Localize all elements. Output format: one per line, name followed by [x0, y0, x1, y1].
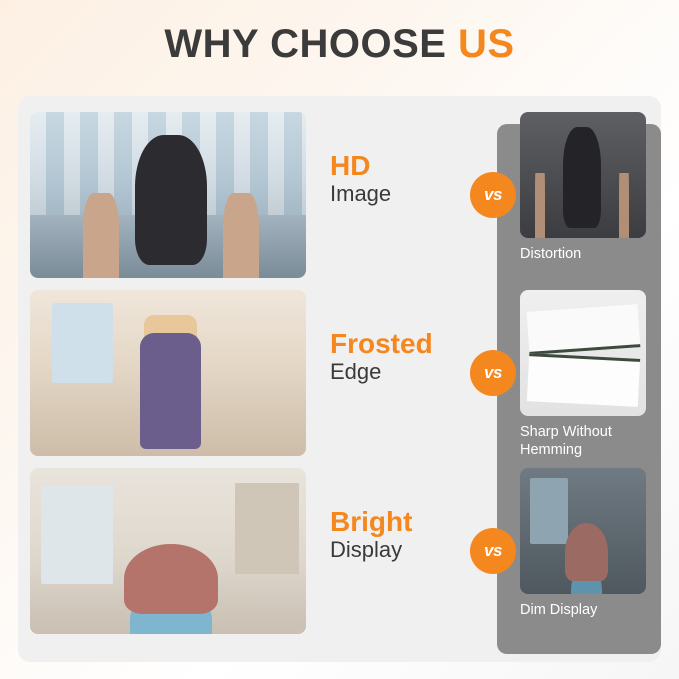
vs-badge: vs	[470, 350, 516, 396]
vs-badge: vs	[470, 528, 516, 574]
main-photo-hd-image	[30, 112, 306, 278]
page-title: WHY CHOOSE US	[0, 22, 679, 67]
feature-title: HD	[330, 150, 495, 181]
main-photo-bright-display	[30, 468, 306, 634]
compare-photo-dim-display	[520, 468, 646, 594]
comparison-block: Dim Display	[520, 468, 646, 619]
dim-display-photo	[520, 468, 646, 594]
compare-caption: Distortion	[520, 245, 646, 263]
page-title-main: WHY CHOOSE	[164, 22, 458, 66]
feature-title: Bright	[330, 506, 495, 537]
woman-stretching-gym-photo	[30, 112, 306, 278]
feature-row: HD Image vs Distortion	[30, 112, 661, 278]
woman-yoga-mat-photo	[30, 468, 306, 634]
distorted-gym-photo	[520, 112, 646, 238]
feature-title: Frosted	[330, 328, 495, 359]
child-stretching-photo	[30, 290, 306, 456]
compare-caption: Sharp Without Hemming	[520, 423, 646, 459]
page-title-accent: US	[458, 22, 515, 66]
compare-photo-distortion	[520, 112, 646, 238]
feature-row: Frosted Edge vs Sharp Without Hemming	[30, 290, 661, 456]
page-title-text: WHY CHOOSE US	[0, 22, 679, 67]
vs-badge: vs	[470, 172, 516, 218]
feature-row: Bright Display vs Dim Display	[30, 468, 661, 634]
compare-caption: Dim Display	[520, 601, 646, 619]
comparison-block: Sharp Without Hemming	[520, 290, 646, 459]
unhemmed-sheet-photo	[520, 290, 646, 416]
compare-photo-sharp-without-hemming	[520, 290, 646, 416]
comparison-block: Distortion	[520, 112, 646, 263]
main-photo-frosted-edge	[30, 290, 306, 456]
